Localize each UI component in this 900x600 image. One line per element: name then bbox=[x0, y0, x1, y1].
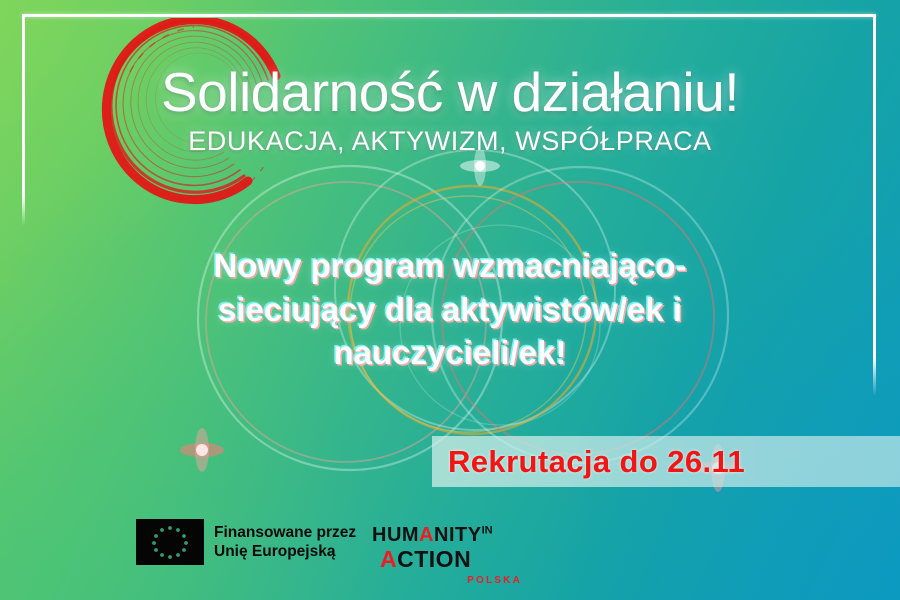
page-subtitle: EDUKACJA, AKTYWIZM, WSPÓŁPRACA bbox=[0, 126, 900, 157]
headline-block: Solidarność w działaniu! EDUKACJA, AKTYW… bbox=[0, 64, 900, 157]
eu-flag-icon bbox=[136, 519, 204, 565]
eu-funding-line-2: Unię Europejską bbox=[214, 542, 356, 561]
statement-line-1: Nowy program wzmacniająco- bbox=[150, 244, 750, 288]
ha-logo-line-1: HUMANITYIN bbox=[372, 525, 522, 545]
ha-word-ction: CTION bbox=[397, 546, 471, 572]
frame-top-line bbox=[22, 14, 876, 17]
page-title: Solidarność w działaniu! bbox=[0, 64, 900, 121]
ha-word-in: IN bbox=[482, 524, 493, 536]
eu-funding-line-1: Finansowane przez bbox=[214, 523, 356, 542]
humanity-in-action-logo: HUMANITYIN ACTION POLSKA bbox=[372, 525, 522, 586]
ha-accent-a-2: A bbox=[380, 546, 397, 572]
ha-word-hum: HUM bbox=[372, 524, 419, 546]
eu-funding-text: Finansowane przez Unię Europejską bbox=[214, 523, 356, 562]
program-statement: Nowy program wzmacniająco- sieciujący dl… bbox=[150, 244, 750, 375]
ha-word-nity: NITY bbox=[434, 524, 482, 546]
recruitment-deadline-label: Rekrutacja do 26.11 bbox=[448, 444, 745, 480]
eu-stars-icon bbox=[136, 519, 204, 565]
poster-canvas: Solidarność w działaniu! EDUKACJA, AKTYW… bbox=[0, 0, 900, 600]
eu-funding-logo: Finansowane przez Unię Europejską bbox=[136, 519, 356, 565]
ha-logo-line-2: ACTION bbox=[380, 548, 522, 571]
statement-line-2: sieciujący dla aktywistów/ek i bbox=[150, 288, 750, 332]
statement-line-3: nauczycieli/ek! bbox=[150, 331, 750, 375]
ha-accent-a-1: A bbox=[419, 524, 434, 546]
recruitment-banner: Rekrutacja do 26.11 bbox=[432, 436, 900, 487]
ha-country-label: POLSKA bbox=[372, 575, 522, 586]
